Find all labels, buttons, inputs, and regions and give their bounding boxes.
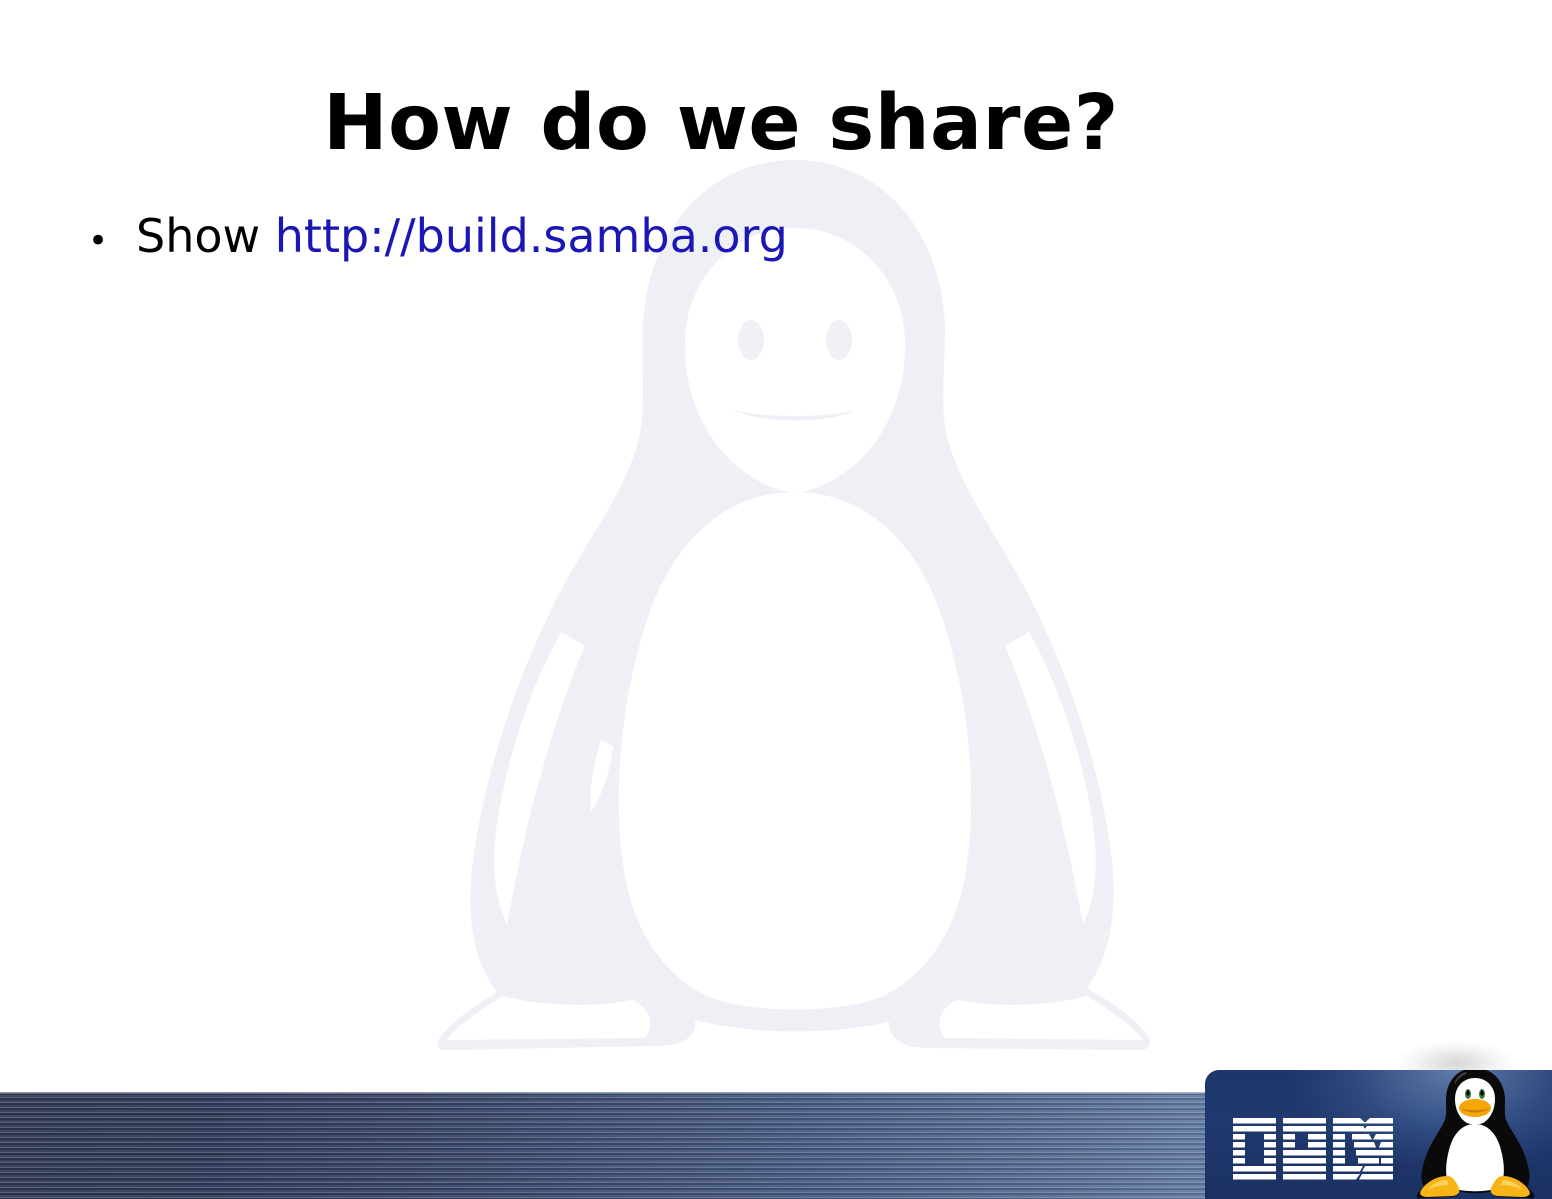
slide-canvas: How do we share? • Show http://build.sam… <box>0 0 1552 1199</box>
bullet-marker-icon: • <box>74 210 136 272</box>
tux-penguin-watermark <box>355 140 1235 1050</box>
ibm-linux-logo-panel <box>1205 1070 1552 1199</box>
samba-build-link[interactable]: http://build.samba.org <box>275 209 788 263</box>
list-item: • Show http://build.samba.org <box>74 205 1414 272</box>
slide-body-list: • Show http://build.samba.org <box>74 205 1414 272</box>
ibm-logo-icon <box>1233 1118 1393 1180</box>
bullet-text: Show http://build.samba.org <box>136 205 788 267</box>
bullet-text-prefix: Show <box>136 209 275 263</box>
tux-mascot-icon <box>1413 1070 1537 1199</box>
slide-title: How do we share? <box>0 84 1442 165</box>
